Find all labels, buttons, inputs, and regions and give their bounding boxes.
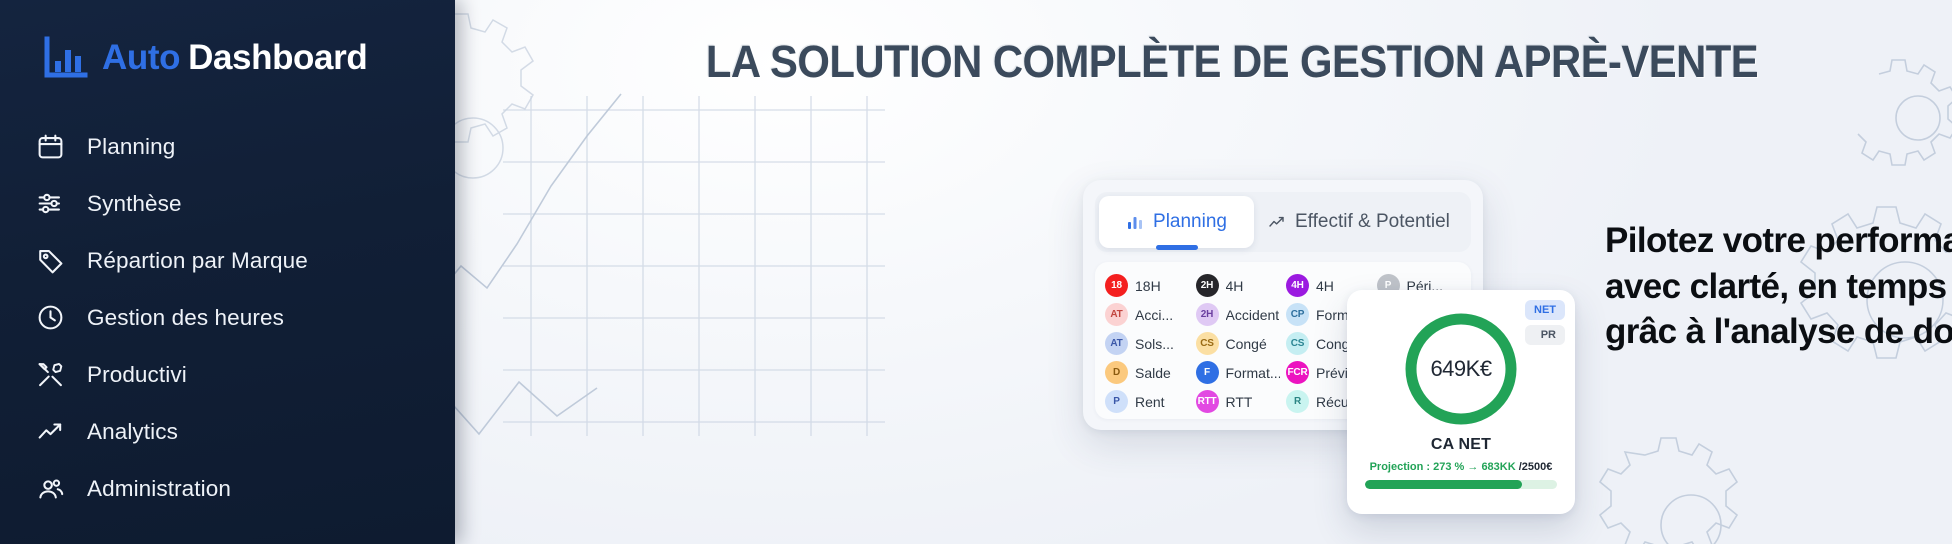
clock-icon <box>36 303 65 332</box>
brand-logo[interactable]: AutoDashboard <box>0 0 455 80</box>
ca-net-projection: Projection : 273 % → 683KK /2500€ <box>1361 461 1561 473</box>
sidebar-item-gestion-des-heures[interactable]: Gestion des heures <box>0 289 455 346</box>
legend-label: Sols... <box>1135 336 1174 352</box>
ca-net-gauge: 649K€ <box>1400 308 1522 430</box>
legend-label: Form <box>1316 307 1349 323</box>
projection-text: Projection : 273 % → 683KK <box>1370 461 1519 473</box>
calendar-icon <box>36 132 65 161</box>
legend-label: Congé <box>1226 336 1267 352</box>
sidebar-item-label: Planning <box>87 134 175 160</box>
legend-label: Cong <box>1316 336 1349 352</box>
legend-badge: D <box>1105 361 1128 384</box>
sidebar-item-synthese[interactable]: Synthèse <box>0 175 455 232</box>
ca-net-title: CA NET <box>1361 436 1561 454</box>
brand-name-second: Dashboard <box>188 38 367 77</box>
projection-target: /2500€ <box>1519 461 1553 473</box>
list-item[interactable]: DSalde <box>1105 358 1190 387</box>
legend-badge: AT <box>1105 303 1128 326</box>
list-item[interactable]: 2H4H <box>1196 271 1281 300</box>
tools-icon <box>36 360 65 389</box>
legend-badge: F <box>1196 361 1219 384</box>
list-item[interactable]: CSCongé <box>1196 329 1281 358</box>
trending-up-icon <box>36 417 65 446</box>
legend-label: Acci... <box>1135 307 1173 323</box>
page-title: LA SOLUTION COMPLÈTE DE GESTION APRÈ-VEN… <box>567 38 1897 85</box>
dashboard-tabs: Planning Effectif & Potentiel <box>1095 192 1471 252</box>
ca-net-value: 649K€ <box>1400 308 1522 430</box>
sidebar-item-planning[interactable]: Planning <box>0 118 455 175</box>
legend-label: Accident <box>1226 307 1280 323</box>
legend-label: Salde <box>1135 365 1171 381</box>
legend-label: 18H <box>1135 278 1161 294</box>
legend-label: 4H <box>1316 278 1334 294</box>
legend-badge: 4H <box>1286 274 1309 297</box>
sidebar-item-analytics[interactable]: Analytics <box>0 403 455 460</box>
sidebar: AutoDashboard Planning S <box>0 0 455 544</box>
list-item[interactable]: 1818H <box>1105 271 1190 300</box>
list-item[interactable]: PRent <box>1105 387 1190 416</box>
list-item[interactable]: FFormat... <box>1196 358 1281 387</box>
banner-stage: LA SOLUTION COMPLÈTE DE GESTION APRÈ-VEN… <box>455 0 1952 544</box>
list-item[interactable]: RTTRTT <box>1196 387 1281 416</box>
legend-badge: CP <box>1286 303 1309 326</box>
ca-net-card: NET PR 649K€ CA NET Projection : 273 % →… <box>1347 290 1575 514</box>
legend-label: Récu <box>1316 394 1349 410</box>
metric-toggle-group: NET PR <box>1525 300 1565 350</box>
sidebar-item-productivite[interactable]: Productivi <box>0 346 455 403</box>
legend-badge: FCR <box>1286 361 1309 384</box>
tag-icon <box>36 246 65 275</box>
list-item[interactable]: ATAcci... <box>1105 300 1190 329</box>
tagline-line-1: Pilotez votre performance <box>1605 218 1952 264</box>
list-item[interactable]: 2HAccident <box>1196 300 1281 329</box>
promo-banner: AutoDashboard Planning S <box>0 0 1952 544</box>
tagline: Pilotez votre performance avec clarté, e… <box>1605 218 1952 355</box>
legend-badge: 2H <box>1196 274 1219 297</box>
tagline-line-3: grâc à l'analyse de données. <box>1605 309 1952 355</box>
sidebar-item-label: Administration <box>87 476 231 502</box>
legend-badge: 18 <box>1105 274 1128 297</box>
trending-up-icon <box>1268 213 1286 231</box>
progress-fill <box>1365 480 1522 489</box>
legend-label: RTT <box>1226 394 1253 410</box>
legend-badge: R <box>1286 390 1309 413</box>
sidebar-item-repartition-par-marque[interactable]: Répartion par Marque <box>0 232 455 289</box>
legend-badge: RTT <box>1196 390 1219 413</box>
legend-label: 4H <box>1226 278 1244 294</box>
sidebar-item-label: Répartion par Marque <box>87 248 308 274</box>
brand-name: AutoDashboard <box>102 38 367 78</box>
legend-label: Prévi <box>1316 365 1348 381</box>
legend-badge: AT <box>1105 332 1128 355</box>
list-item[interactable]: ATSols... <box>1105 329 1190 358</box>
tagline-line-2: avec clarté, en temps réel, <box>1605 264 1952 310</box>
legend-badge: P <box>1105 390 1128 413</box>
users-icon <box>36 474 65 503</box>
legend-label: Rent <box>1135 394 1165 410</box>
sidebar-nav: Planning Synthèse Répa <box>0 118 455 517</box>
sidebar-item-label: Gestion des heures <box>87 305 284 331</box>
tab-label: Planning <box>1153 211 1227 233</box>
sidebar-item-administration[interactable]: Administration <box>0 460 455 517</box>
sidebar-item-label: Productivi <box>87 362 187 388</box>
tab-label: Effectif & Potentiel <box>1295 211 1450 233</box>
tab-planning[interactable]: Planning <box>1099 196 1254 248</box>
legend-badge: CS <box>1286 332 1309 355</box>
chip-net[interactable]: NET <box>1525 300 1565 320</box>
legend-label: Format... <box>1226 365 1281 381</box>
tab-effectif-potentiel[interactable]: Effectif & Potentiel <box>1254 196 1464 248</box>
brand-name-first: Auto <box>102 38 180 77</box>
bar-chart-icon <box>1126 213 1144 231</box>
sidebar-item-label: Analytics <box>87 419 178 445</box>
ca-net-progress-bar <box>1365 480 1557 489</box>
sliders-icon <box>36 189 65 218</box>
chip-pr[interactable]: PR <box>1525 325 1565 345</box>
legend-badge: 2H <box>1196 303 1219 326</box>
sidebar-item-label: Synthèse <box>87 191 182 217</box>
bar-chart-icon <box>42 36 88 80</box>
legend-badge: CS <box>1196 332 1219 355</box>
